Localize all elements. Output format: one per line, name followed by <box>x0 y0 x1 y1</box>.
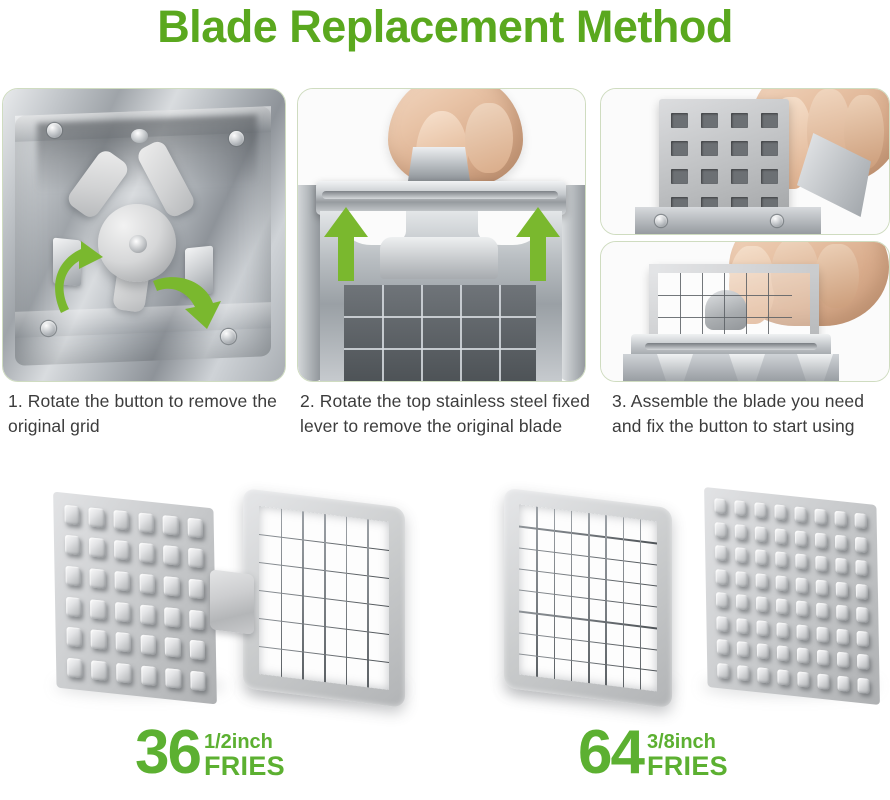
step-caption-1: 1. Rotate the button to remove the origi… <box>8 389 288 439</box>
finger <box>465 103 513 173</box>
blade-frame-64 <box>504 488 672 709</box>
step-photo-3b <box>600 241 890 382</box>
rivet-icon <box>221 329 236 344</box>
push-block-64 <box>704 487 880 705</box>
product-photo-36 <box>35 480 455 715</box>
step-photo-2 <box>297 88 586 382</box>
count-label-36: 36 1/2inch FRIES <box>135 725 285 781</box>
step-caption-2: 2. Rotate the top stainless steel fixed … <box>300 389 590 439</box>
infographic-page: Blade Replacement Method <box>0 0 890 800</box>
push-block-grid <box>659 99 789 223</box>
step-photo-3a <box>600 88 890 235</box>
finger <box>815 244 859 308</box>
page-title: Blade Replacement Method <box>0 0 890 56</box>
rivet-icon <box>771 215 783 227</box>
lift-arrow-left-icon <box>324 207 368 281</box>
count-label-64: 64 3/8inch FRIES <box>578 725 728 781</box>
lift-arrow-right-icon <box>516 207 560 281</box>
step-photo-1 <box>2 88 286 382</box>
push-block-36 <box>53 492 217 705</box>
pusher-sled <box>380 237 498 279</box>
fry-size: 3/8inch <box>647 732 728 753</box>
rivet-icon <box>41 321 56 336</box>
product-photo-64 <box>490 480 890 715</box>
connector-tab <box>210 569 254 634</box>
fixed-lever-blade <box>408 147 470 181</box>
rivet-icon <box>655 215 667 227</box>
rivet-icon <box>47 123 62 138</box>
screw-icon <box>131 129 148 143</box>
count-number: 36 <box>135 725 200 781</box>
fries-word: FRIES <box>204 753 285 780</box>
blade-frame-36 <box>243 488 405 708</box>
rotate-arrow-up-icon <box>47 239 107 315</box>
fry-size: 1/2inch <box>204 732 285 753</box>
photo-2-canvas <box>298 89 585 381</box>
photo-3b-canvas <box>601 242 889 381</box>
rivet-icon <box>229 131 244 146</box>
photo-3a-canvas <box>601 89 889 234</box>
lever-groove <box>322 191 558 199</box>
count-number: 64 <box>578 725 643 781</box>
step-caption-3: 3. Assemble the blade you need and fix t… <box>612 389 890 439</box>
blade-grid <box>344 285 536 381</box>
photo-1-canvas <box>3 89 285 381</box>
knob-center-screw <box>129 235 147 253</box>
cutter-side-right <box>560 185 585 381</box>
fries-word: FRIES <box>647 753 728 780</box>
rotate-arrow-down-icon <box>151 275 223 337</box>
